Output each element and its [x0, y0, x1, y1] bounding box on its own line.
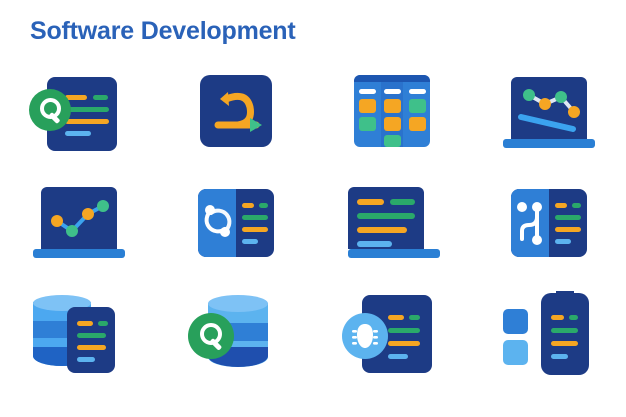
code-line: [551, 341, 578, 346]
laptop-chart-down-icon[interactable]: [493, 67, 603, 159]
code-line: [242, 215, 268, 220]
icon-cell-git-branch-code[interactable]: [470, 168, 626, 278]
laptop-base: [503, 139, 595, 148]
code-lines: [388, 315, 420, 359]
bug-icon: [352, 322, 378, 350]
sync-icon: [204, 199, 232, 247]
code-lines: [555, 203, 581, 244]
column-header: [359, 89, 376, 94]
board-card[interactable]: [359, 117, 376, 131]
board-header: [354, 75, 430, 82]
line-chart-icon: [511, 77, 587, 139]
search-badge[interactable]: [29, 89, 71, 131]
code-line: [555, 239, 571, 244]
code-line: [357, 241, 392, 247]
git-branch-icon: [517, 197, 545, 249]
code-lines: [77, 321, 108, 362]
code-line: [555, 227, 581, 232]
icon-cell-laptop-chart-up[interactable]: [0, 168, 157, 278]
icon-cell-database-code[interactable]: [0, 278, 157, 388]
board-card[interactable]: [384, 117, 401, 131]
code-line: [357, 199, 384, 205]
code-line: [551, 354, 568, 359]
code-line: [77, 333, 106, 338]
icon-cell-agile-loop[interactable]: [157, 58, 314, 168]
line-chart-icon: [41, 187, 117, 249]
debug-code-icon[interactable]: [336, 287, 446, 379]
database-search-icon[interactable]: [180, 287, 290, 379]
board-card[interactable]: [359, 99, 376, 113]
code-line: [572, 203, 581, 208]
code-line: [409, 315, 420, 320]
code-line: [93, 95, 108, 100]
laptop-base: [33, 249, 125, 258]
laptop-chart-up-icon[interactable]: [23, 177, 133, 269]
code-line: [242, 227, 268, 232]
code-lines: [65, 95, 109, 136]
icon-set-page: Software Development: [0, 0, 626, 417]
code-line: [388, 354, 408, 359]
laptop-base: [348, 249, 440, 258]
code-line: [77, 321, 93, 326]
app-tile[interactable]: [503, 340, 528, 365]
code-line: [388, 328, 420, 333]
icon-cell-sync-code[interactable]: [157, 168, 314, 278]
icon-cell-code-search[interactable]: [0, 58, 157, 168]
board-card[interactable]: [409, 99, 426, 113]
column-header: [409, 89, 426, 94]
code-lines: [242, 203, 268, 244]
icon-cell-debug-code[interactable]: [313, 278, 470, 388]
board: [354, 75, 430, 147]
code-line: [569, 315, 578, 320]
code-line: [77, 357, 95, 362]
database-code-icon[interactable]: [23, 287, 133, 379]
code-line: [77, 345, 106, 350]
code-line: [98, 321, 108, 326]
code-lines: [551, 315, 578, 359]
icon-cell-mobile-code[interactable]: [470, 278, 626, 388]
app-tile[interactable]: [503, 309, 528, 334]
code-line: [65, 131, 91, 136]
board-card[interactable]: [384, 99, 401, 113]
code-line: [65, 107, 109, 112]
code-line: [388, 315, 404, 320]
code-line: [551, 315, 564, 320]
laptop-code-icon[interactable]: [336, 177, 446, 269]
git-branch-code-icon[interactable]: [493, 177, 603, 269]
code-line: [390, 199, 415, 205]
icon-grid: [0, 58, 626, 388]
code-line: [242, 203, 254, 208]
sync-code-icon[interactable]: [180, 177, 290, 269]
mobile-code-icon[interactable]: [493, 287, 603, 379]
search-badge[interactable]: [188, 313, 234, 359]
icon-cell-laptop-chart-down[interactable]: [470, 58, 626, 168]
board-card[interactable]: [409, 117, 426, 131]
code-line: [551, 328, 578, 333]
phone-notch: [556, 291, 574, 298]
code-line: [65, 119, 109, 124]
icon-cell-database-search[interactable]: [157, 278, 314, 388]
page-title: Software Development: [30, 17, 296, 46]
board-card[interactable]: [384, 135, 401, 147]
column-header: [384, 89, 401, 94]
code-lines: [357, 199, 415, 247]
loop-arrow-icon: [200, 75, 272, 147]
code-line: [388, 341, 420, 346]
code-line: [357, 213, 415, 219]
debug-badge[interactable]: [342, 313, 388, 359]
kanban-board-icon[interactable]: [336, 67, 446, 159]
code-line: [555, 215, 581, 220]
code-line: [259, 203, 268, 208]
icon-cell-laptop-code[interactable]: [313, 168, 470, 278]
icon-cell-kanban-board[interactable]: [313, 58, 470, 168]
code-line: [357, 227, 407, 233]
code-line: [555, 203, 567, 208]
code-search-icon[interactable]: [23, 67, 133, 159]
code-line: [242, 239, 258, 244]
agile-loop-icon[interactable]: [180, 67, 290, 159]
